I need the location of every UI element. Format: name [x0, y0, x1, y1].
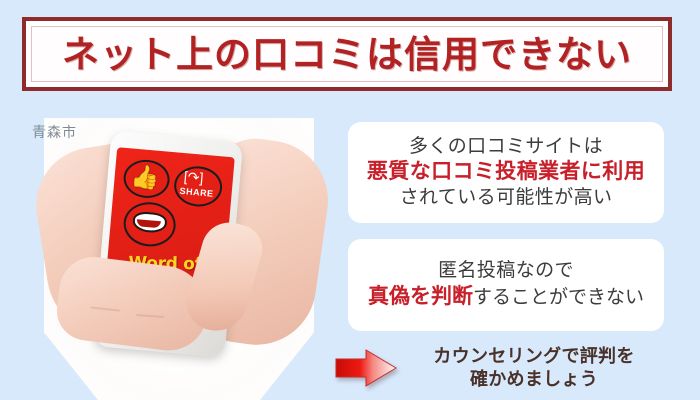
callout-2-line-1: 匿名投稿なので [438, 259, 574, 283]
share-icon: [↷] [183, 169, 204, 185]
callout-box-1: 多くの口コミサイトは 悪質な口コミ投稿業者に利用 されている可能性が高い [348, 122, 664, 223]
cta-line-2: 確かめましょう [396, 368, 672, 391]
city-label: 青森市 [32, 122, 77, 142]
header-banner: ネット上の口コミは信用できない [22, 17, 672, 91]
callout-1-line-2: 悪質な口コミ投稿業者に利用 [367, 159, 645, 186]
callout-2-line-2: 真偽を判断することができない [368, 284, 644, 311]
callout-box-2: 匿名投稿なので 真偽を判断することができない [348, 239, 664, 331]
page-title: ネット上の口コミは信用できない [62, 36, 632, 73]
thumbs-up-icon: 👍 [130, 165, 161, 190]
callout-1-line-3: されている可能性が高い [400, 186, 613, 210]
header-inner-frame: ネット上の口コミは信用できない [31, 26, 663, 82]
photo-illustration: 👍 [↷] SHARE Word of Mouth Online Network… [18, 112, 328, 400]
callout-2-plain-text: することができない [473, 287, 644, 308]
callout-2-accent-text: 真偽を判断 [368, 285, 473, 308]
callout-1-line-1: 多くの口コミサイトは [409, 135, 603, 159]
right-arrow-icon [334, 348, 398, 388]
poster-root: ネット上の口コミは信用できない 👍 [↷] SHARE Word of Mout… [0, 0, 700, 400]
cta-line-1: カウンセリングで評判を [396, 345, 672, 368]
cta-text-block: カウンセリングで評判を 確かめましょう [396, 345, 672, 392]
